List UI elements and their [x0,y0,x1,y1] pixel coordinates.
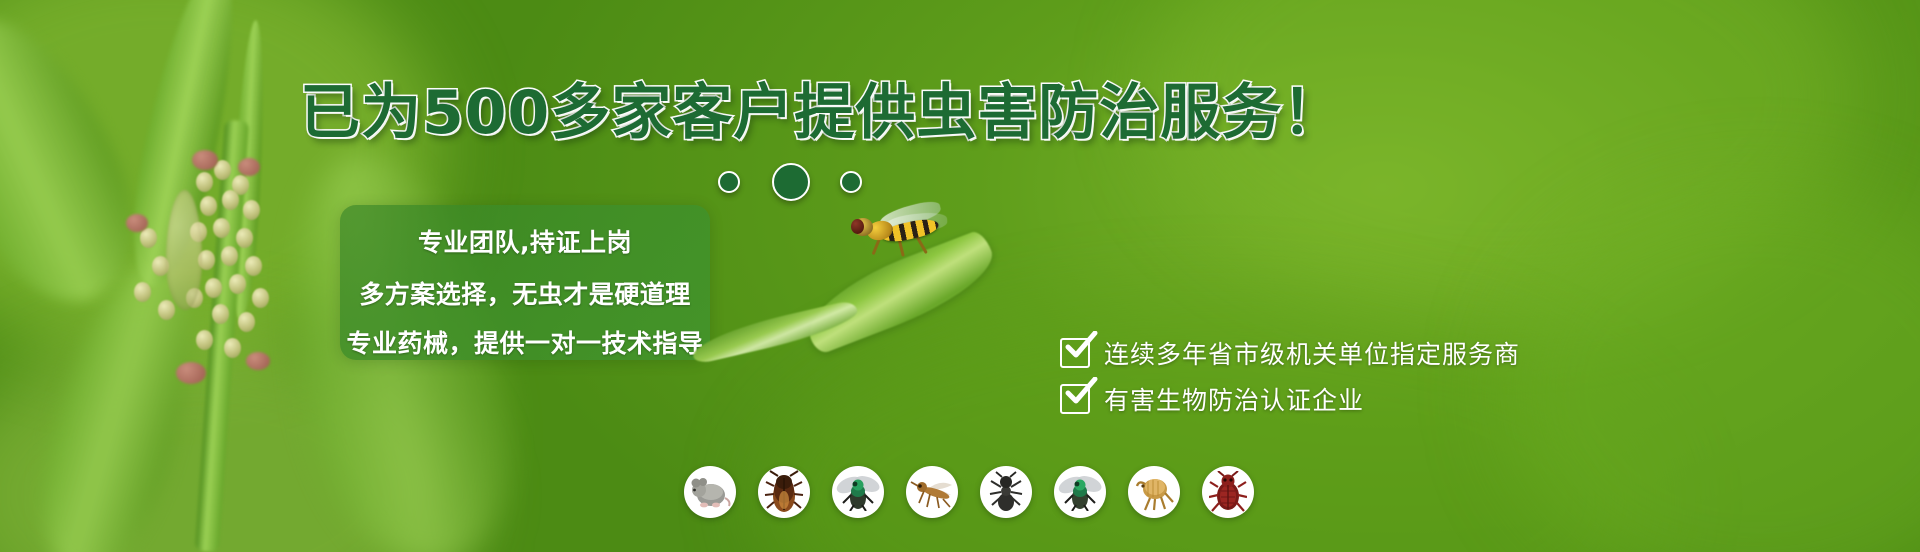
fly-eye [851,219,864,234]
background-blur-blob [1500,180,1920,552]
background-blur-blob [1150,0,1850,310]
slogan-panel: 专业团队,持证上岗 多方案选择，无虫才是硬道理 专业药械，提供一对一技术指导 [340,205,710,360]
pest-control-hero-banner: 已为500多家客户提供虫害防治服务！ 专业团队,持证上岗 多方案选择，无虫才是硬… [0,0,1920,552]
checklist-item-label: 有害生物防治认证企业 [1104,381,1364,417]
checklist-item: 有害生物防治认证企业 [1060,376,1520,422]
checklist-item-label: 连续多年省市级机关单位指定服务商 [1104,335,1520,371]
credential-checklist: 连续多年省市级机关单位指定服务商 有害生物防治认证企业 [1060,330,1520,422]
fly-leg [915,235,928,254]
bedbug-icon[interactable] [1202,466,1254,518]
slogan-line-3: 专业药械，提供一对一技术指导 [340,324,710,360]
decorative-dot-small-right [840,171,862,193]
slogan-line-1: 专业团队,持证上岗 [340,223,710,259]
hoverfly-icon [845,200,955,260]
page-title: 已为500多家客户提供虫害防治服务！ [300,80,1300,148]
checkbox-checked-icon [1060,384,1090,414]
decorative-dots [700,160,900,200]
mouse-icon[interactable] [684,466,736,518]
decorative-dot-large [772,163,810,201]
mosquito-icon[interactable] [906,466,958,518]
decorative-dot-small-left [718,171,740,193]
fly-icon[interactable] [832,466,884,518]
slogan-line-2: 多方案选择，无虫才是硬道理 [340,275,710,311]
housefly-icon[interactable] [1054,466,1106,518]
pest-icon-strip [684,466,1254,518]
checklist-item: 连续多年省市级机关单位指定服务商 [1060,330,1520,376]
checkbox-checked-icon [1060,338,1090,368]
flea-icon[interactable] [1128,466,1180,518]
ant-icon[interactable] [980,466,1032,518]
cockroach-icon[interactable] [758,466,810,518]
